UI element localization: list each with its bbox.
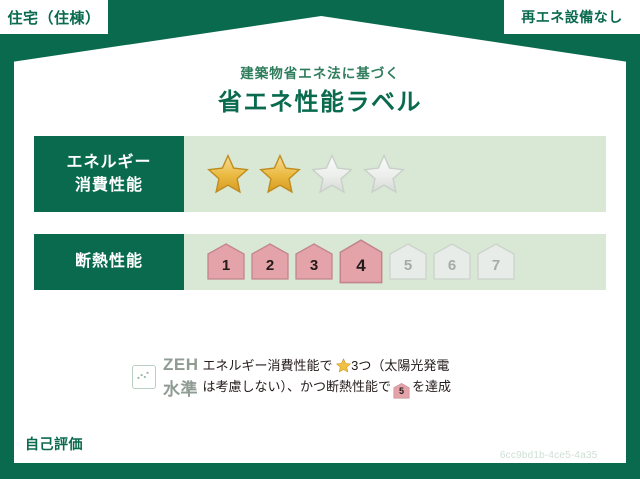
insulation-label-line1: 断熱性能 [75,250,143,273]
insulation-grade-value: 6 [448,257,456,281]
label-title: 省エネ性能ラベル [14,82,626,117]
insulation-grade-value: 1 [222,257,230,281]
insulation-grade-value: 7 [492,257,500,281]
insulation-grade-value: 2 [266,257,274,281]
zeh-note-line2: は考慮しない）、かつ断熱性能で 5 を達成 [203,376,607,399]
zeh-standard-mark: ZEH水準 [34,355,199,400]
zeh-note-line2-prefix: は考慮しない）、かつ断熱性能で [203,379,392,394]
insulation-grade-active: 3 [294,243,334,281]
star-rating [184,136,606,212]
energy-label-line1: エネルギー [66,151,151,174]
zeh-standard-label: ZEH水準 [163,355,199,400]
zeh-note-line1-suffix: 3つ（太陽光発電 [351,358,449,373]
zeh-note: ZEH水準 エネルギー消費性能で 3つ（太陽光発電 は考慮しない）、かつ断熱性能… [34,346,606,408]
badge-renewable-energy: 再エネ設備なし [504,0,640,34]
label-subtitle: 建築物省エネ法に基づく [14,62,626,82]
insulation-grade-value: 5 [404,257,412,281]
star-filled-icon [258,153,302,195]
self-evaluation-badge: 自己評価 [18,431,90,457]
zeh-note-line1: エネルギー消費性能で 3つ（太陽光発電 [203,355,607,376]
energy-performance-row-label: エネルギー 消費性能 [34,136,184,212]
zeh-note-text: エネルギー消費性能で 3つ（太陽光発電 は考慮しない）、かつ断熱性能で 5 を達… [199,355,607,399]
evaluation-id: 6cc9bd1b-4ce5-4a35 [475,450,622,461]
energy-performance-label: 建築物省エネ法に基づく 省エネ性能ラベル エネルギー 消費性能 断熱性能 123… [0,0,640,479]
insulation-grade-value: 4 [356,256,365,285]
star-empty-icon [362,153,406,195]
star-empty-icon [310,153,354,195]
insulation-grade-active: 2 [250,243,290,281]
inline-house-grade-icon: 5 [393,383,410,399]
footer-left-group: 自己評価 プレサンス京橋GREEN YARDアルミラ [18,431,348,457]
insulation-grade-inactive: 7 [476,243,516,281]
energy-performance-row: エネルギー 消費性能 [34,136,606,212]
label-body-panel: 建築物省エネ法に基づく 省エネ性能ラベル エネルギー 消費性能 断熱性能 123… [14,16,626,463]
panel-inner: 建築物省エネ法に基づく 省エネ性能ラベル エネルギー 消費性能 断熱性能 123… [14,16,626,463]
insulation-grade-active: 4 [338,239,384,285]
inline-star-icon [336,358,351,373]
inline-house-grade-value: 5 [393,383,410,396]
insulation-grade-scale: 1234567 [184,234,606,290]
insulation-grade-inactive: 6 [432,243,472,281]
insulation-performance-row: 断熱性能 1234567 [34,234,606,290]
zeh-note-line1-prefix: エネルギー消費性能で [203,358,333,373]
zeh-mark-icon [132,365,156,389]
evaluation-date: 評価日 2024年10月3日 [475,427,622,447]
insulation-grade-inactive: 5 [388,243,428,281]
insulation-grade-active: 1 [206,243,246,281]
zeh-note-line2-suffix: を達成 [412,379,451,394]
insulation-performance-row-label: 断熱性能 [34,234,184,290]
label-footer: 自己評価 プレサンス京橋GREEN YARDアルミラ 評価日 2024年10月3… [0,417,640,479]
insulation-grade-value: 3 [310,257,318,281]
star-filled-icon [206,153,250,195]
building-name: プレサンス京橋GREEN YARDアルミラ [97,434,348,454]
badge-housing-type: 住宅（住棟） [0,0,108,34]
energy-label-line2: 消費性能 [75,174,143,197]
footer-right-group: 評価日 2024年10月3日 6cc9bd1b-4ce5-4a35 [475,427,622,461]
